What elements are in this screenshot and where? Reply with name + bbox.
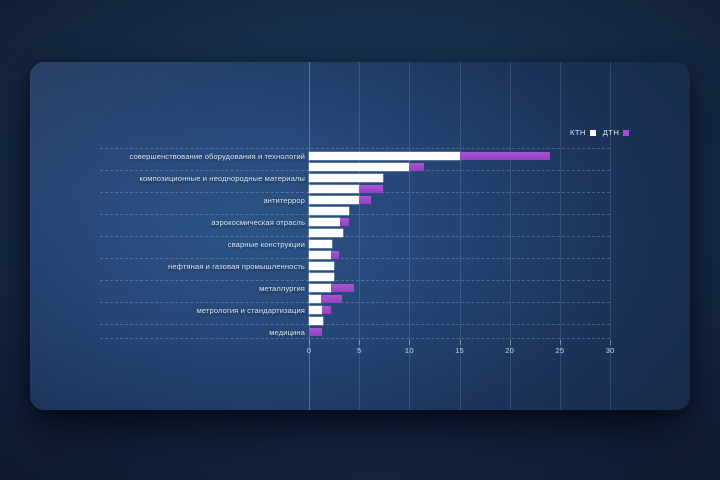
bar-segment-ktn[interactable] — [309, 207, 349, 215]
bar-segment-ktn[interactable] — [309, 229, 343, 237]
bar-segment-ktn[interactable] — [309, 284, 331, 292]
category-label-7: метрология и стандартизация — [197, 306, 305, 315]
horizontal-gridline — [100, 236, 610, 237]
bar-segment-dtn[interactable] — [409, 163, 424, 171]
x-tick-mark-10 — [409, 340, 410, 345]
x-tick-label-0: 0 — [307, 346, 311, 355]
horizontal-gridline — [100, 214, 610, 215]
category-label-3: аэрокосмическая отрасль — [211, 218, 305, 227]
category-label-0: совершенствование оборудования и техноло… — [130, 152, 306, 161]
x-tick-mark-30 — [610, 340, 611, 345]
bar-4[interactable] — [309, 196, 371, 204]
bar-segment-dtn[interactable] — [359, 185, 383, 193]
horizontal-gridline — [100, 148, 610, 149]
horizontal-gridline — [100, 324, 610, 325]
bar-segment-dtn[interactable] — [359, 196, 371, 204]
category-label-1: композиционные и неоднородные материалы — [139, 174, 305, 183]
bar-15[interactable] — [309, 317, 323, 325]
bar-segment-ktn[interactable] — [309, 295, 321, 303]
bar-segment-dtn[interactable] — [321, 295, 342, 303]
category-label-6: металлургия — [259, 284, 305, 293]
horizontal-gridline — [100, 302, 610, 303]
bar-segment-dtn[interactable] — [309, 328, 322, 336]
bar-segment-dtn[interactable] — [460, 152, 550, 160]
chart-card: КТН ДТН совершенствование оборудования и… — [30, 62, 690, 410]
bar-segment-ktn[interactable] — [309, 240, 332, 248]
bar-9[interactable] — [309, 251, 339, 259]
chart-legend: КТН ДТН — [570, 128, 629, 137]
legend-item-ktn[interactable]: КТН — [570, 128, 596, 137]
legend-label-ktn: КТН — [570, 128, 586, 137]
x-tick-label-5: 5 — [357, 346, 361, 355]
horizontal-gridline — [100, 338, 610, 339]
bar-segment-dtn[interactable] — [331, 251, 339, 259]
bar-segment-ktn[interactable] — [309, 152, 460, 160]
bar-segment-dtn[interactable] — [340, 218, 349, 226]
x-tick-mark-0 — [309, 340, 310, 345]
x-tick-mark-25 — [560, 340, 561, 345]
bar-segment-ktn[interactable] — [309, 196, 359, 204]
bar-13[interactable] — [309, 295, 342, 303]
bar-segment-ktn[interactable] — [309, 218, 340, 226]
category-axis-labels: совершенствование оборудования и техноло… — [60, 148, 305, 340]
category-label-2: антитеррор — [263, 196, 305, 205]
bar-segment-ktn[interactable] — [309, 251, 331, 259]
bar-3[interactable] — [309, 185, 383, 193]
bar-segment-ktn[interactable] — [309, 262, 334, 270]
x-tick-label-25: 25 — [555, 346, 564, 355]
x-tick-label-30: 30 — [606, 346, 615, 355]
bar-segment-dtn[interactable] — [331, 284, 354, 292]
legend-label-dtn: ДТН — [603, 128, 619, 137]
bar-8[interactable] — [309, 240, 332, 248]
bar-segment-ktn[interactable] — [309, 317, 323, 325]
bar-10[interactable] — [309, 262, 334, 270]
square-swatch-purple-icon — [623, 130, 629, 136]
bar-5[interactable] — [309, 207, 349, 215]
x-tick-mark-15 — [460, 340, 461, 345]
category-label-5: нефтяная и газовая промышленность — [168, 262, 305, 271]
bar-segment-dtn[interactable] — [322, 306, 331, 314]
legend-item-dtn[interactable]: ДТН — [603, 128, 629, 137]
bar-0[interactable] — [309, 152, 550, 160]
bar-11[interactable] — [309, 273, 334, 281]
bar-16[interactable] — [309, 328, 322, 336]
bar-7[interactable] — [309, 229, 343, 237]
x-tick-mark-20 — [510, 340, 511, 345]
bar-2[interactable] — [309, 174, 383, 182]
horizontal-gridline — [100, 258, 610, 259]
bar-14[interactable] — [309, 306, 331, 314]
x-tick-label-10: 10 — [405, 346, 414, 355]
bar-segment-ktn[interactable] — [309, 273, 334, 281]
x-tick-label-15: 15 — [455, 346, 464, 355]
category-label-8: медицина — [269, 328, 305, 337]
square-swatch-white-icon — [590, 130, 596, 136]
x-axis: 051015202530 — [309, 340, 614, 370]
bar-1[interactable] — [309, 163, 424, 171]
bar-segment-ktn[interactable] — [309, 163, 409, 171]
bar-12[interactable] — [309, 284, 354, 292]
bar-segment-ktn[interactable] — [309, 174, 383, 182]
bar-segment-ktn[interactable] — [309, 306, 322, 314]
category-label-4: сварные конструкции — [228, 240, 305, 249]
plot-area — [309, 148, 610, 340]
x-tick-label-20: 20 — [505, 346, 514, 355]
bar-6[interactable] — [309, 218, 349, 226]
horizontal-gridline — [100, 280, 610, 281]
bar-segment-ktn[interactable] — [309, 185, 359, 193]
x-tick-mark-5 — [359, 340, 360, 345]
